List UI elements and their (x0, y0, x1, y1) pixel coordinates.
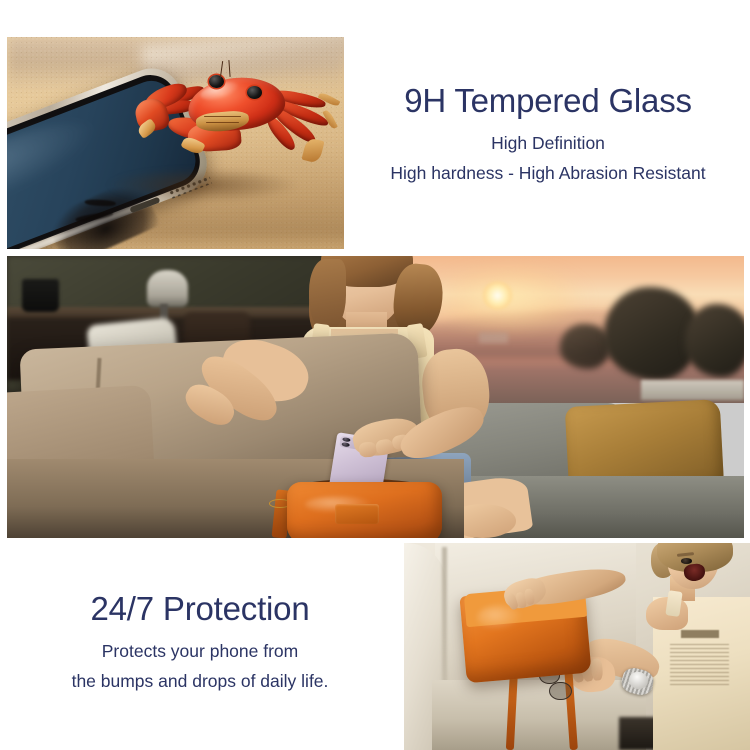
product-infographic-page: 9H Tempered Glass High Definition High h… (0, 0, 750, 750)
finger (359, 441, 377, 457)
crab-mouth-line (206, 122, 238, 123)
tempered-glass-headline: 9H Tempered Glass (348, 82, 748, 121)
protection-subtitle-1: Protects your phone from (0, 641, 400, 662)
crab-antenna (228, 60, 231, 77)
tempered-glass-subtitle-1: High Definition (348, 133, 748, 154)
crab-eye-right (247, 86, 262, 99)
setting-sun (482, 281, 513, 309)
finger (524, 589, 536, 606)
background-tree (685, 304, 744, 377)
crab-figure (132, 58, 334, 202)
woman-hair-side (309, 259, 346, 332)
camera-lens (341, 443, 350, 448)
couch-back-rail (641, 380, 744, 400)
sunglasses-lens (549, 682, 571, 701)
finger (591, 658, 603, 681)
tempered-glass-text-block: 9H Tempered Glass High Definition High h… (348, 82, 748, 183)
woman-grabbing-handbag-photo (404, 543, 750, 750)
woman-placing-phone-in-bag-photo (7, 256, 744, 538)
shirt-printed-heading (681, 630, 719, 638)
protection-headline: 24/7 Protection (0, 590, 400, 629)
handbag-front-tab (335, 504, 379, 524)
woman-eye (681, 558, 692, 563)
crab-on-phone-photo (7, 37, 344, 249)
crab-leg-tip (301, 137, 324, 164)
shirt-printed-paragraph (670, 644, 729, 687)
sofa-seat (432, 680, 647, 750)
table-lamp-shade (147, 270, 188, 307)
protection-text-block: 24/7 Protection Protects your phone from… (0, 590, 400, 691)
tempered-glass-subtitle-2: High hardness - High Abrasion Resistant (348, 163, 748, 184)
decor-vase (22, 279, 59, 313)
protection-subtitle-2: the bumps and drops of daily life. (0, 671, 400, 692)
